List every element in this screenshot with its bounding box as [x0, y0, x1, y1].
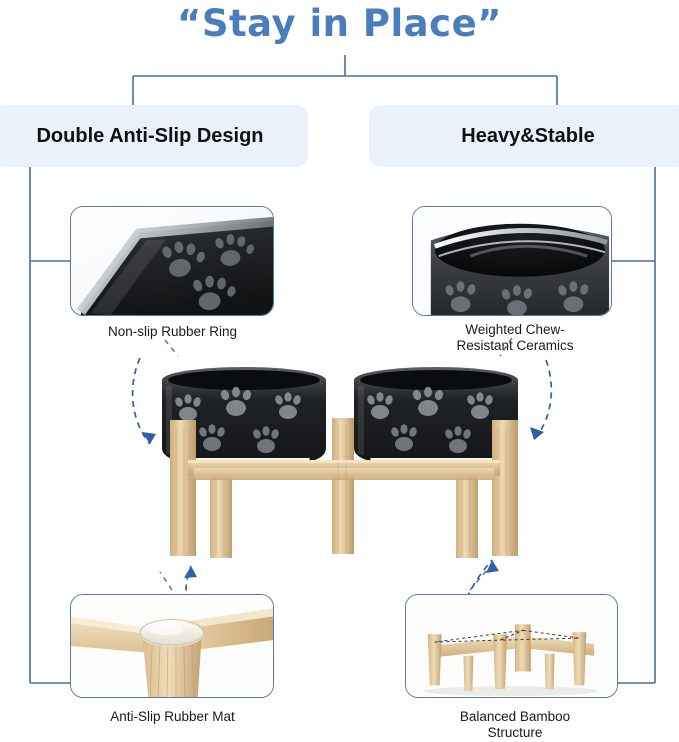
- caption-line-1: Weighted Chew-: [400, 322, 630, 338]
- category-label: Double Anti-Slip Design: [36, 125, 263, 148]
- hero-product-elevated-double-dog-bowl-stand: [148, 362, 538, 572]
- page-title: “Stay in Place”: [0, 2, 679, 45]
- black-ceramic-bowl-interior-rim-closeup-image: [413, 207, 611, 315]
- feature-caption-balanced-bamboo-structure: Balanced Bamboo Structure: [400, 709, 630, 741]
- bamboo-leg-with-clear-rubber-pad-closeup-image: [71, 595, 273, 697]
- caption-line-2: Resistant Ceramics: [400, 338, 630, 354]
- feature-caption-anti-slip-rubber-mat: Anti-Slip Rubber Mat: [60, 709, 285, 725]
- leader-bottom-right: [470, 570, 487, 590]
- infographic-poster: “Stay in Place”: [0, 0, 679, 742]
- feature-card-balanced-bamboo-structure[interactable]: [405, 594, 618, 698]
- feature-card-weighted-chew-resistant-ceramics[interactable]: [412, 206, 612, 316]
- category-box-double-anti-slip[interactable]: Double Anti-Slip Design: [0, 105, 308, 167]
- feature-card-non-slip-rubber-ring[interactable]: [70, 206, 274, 316]
- category-label: Heavy&Stable: [461, 125, 594, 148]
- black-ceramic-bowl-base-paw-print-closeup-image: [71, 207, 273, 315]
- category-box-heavy-stable[interactable]: Heavy&Stable: [369, 105, 679, 167]
- feature-caption-non-slip-rubber-ring: Non-slip Rubber Ring: [60, 324, 285, 340]
- leader-bottom-left: [160, 572, 172, 590]
- feature-card-anti-slip-rubber-mat[interactable]: [70, 594, 274, 698]
- caption-line-1: Balanced Bamboo: [400, 709, 630, 725]
- leader-top-left: [165, 340, 178, 356]
- feature-caption-weighted-chew-resistant-ceramics: Weighted Chew- Resistant Ceramics: [400, 322, 630, 354]
- caption-line-2: Structure: [400, 725, 630, 741]
- bamboo-stand-with-dashed-triangle-overlay-image: [406, 595, 617, 697]
- hero-product-image: [148, 362, 538, 572]
